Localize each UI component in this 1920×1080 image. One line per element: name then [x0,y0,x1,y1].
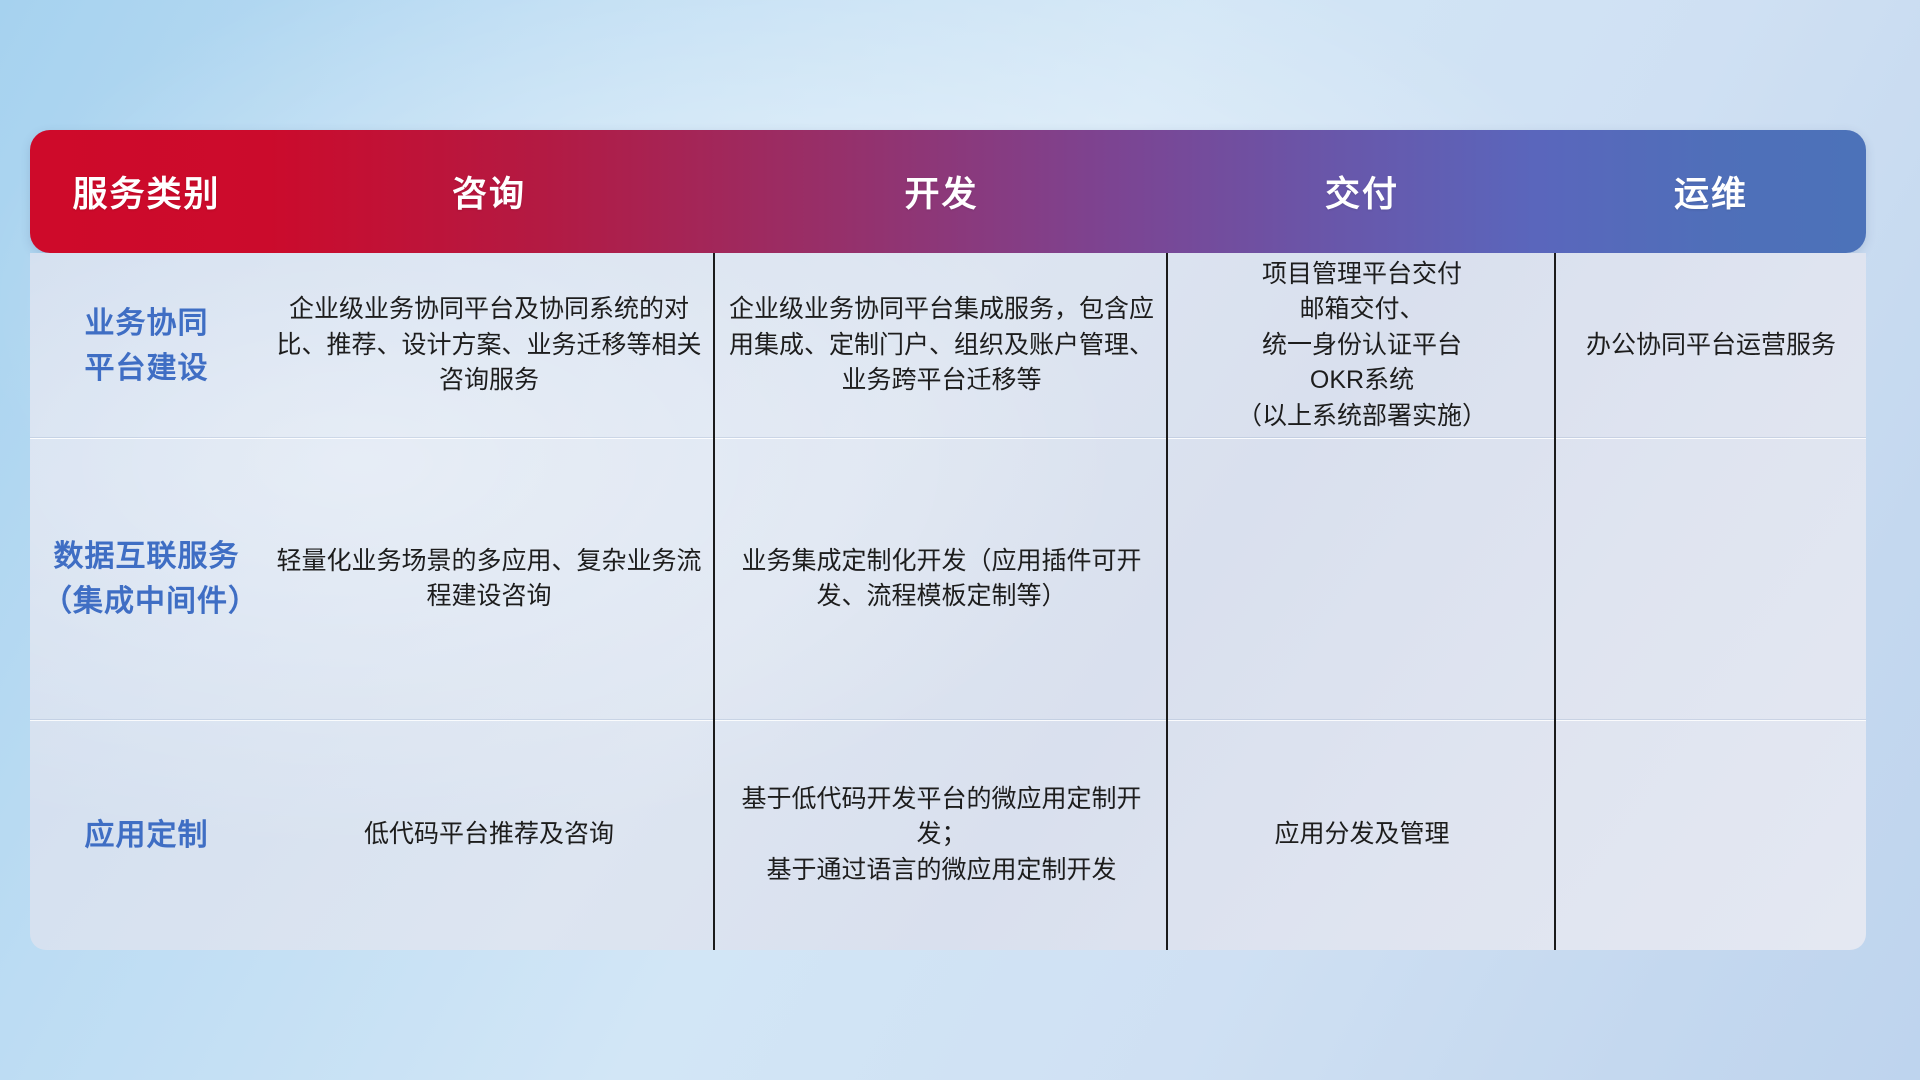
column-divider [713,253,715,950]
row-separator [30,720,1866,721]
service-matrix-table: 服务类别 咨询 开发 交付 运维 业务协同 平台建设 企业级业务协同平台及协同系… [30,130,1866,950]
cell-development: 企业级业务协同平台集成服务，包含应用集成、定制门户、组织及账户管理、业务跨平台迁… [715,253,1168,438]
cell-consulting: 轻量化业务场景的多应用、复杂业务流程建设咨询 [263,438,715,720]
column-divider [1554,253,1556,950]
cell-consulting: 企业级业务协同平台及协同系统的对比、推荐、设计方案、业务迁移等相关咨询服务 [263,253,715,438]
cell-operations: 办公协同平台运营服务 [1556,253,1866,438]
table-header-row: 服务类别 咨询 开发 交付 运维 [30,130,1866,253]
cell-operations [1556,720,1866,950]
row-category-label: 应用定制 [30,720,263,950]
table-row: 业务协同 平台建设 企业级业务协同平台及协同系统的对比、推荐、设计方案、业务迁移… [30,253,1866,438]
table-row: 数据互联服务 （集成中间件） 轻量化业务场景的多应用、复杂业务流程建设咨询 业务… [30,438,1866,720]
row-separator [30,438,1866,439]
cell-consulting: 低代码平台推荐及咨询 [263,720,715,950]
column-header-category: 服务类别 [30,166,263,217]
row-category-label: 业务协同 平台建设 [30,253,263,438]
cell-operations [1556,438,1866,720]
column-header-delivery: 交付 [1168,166,1556,217]
column-header-consulting: 咨询 [263,166,715,217]
table-row: 应用定制 低代码平台推荐及咨询 基于低代码开发平台的微应用定制开发； 基于通过语… [30,720,1866,950]
column-header-operations: 运维 [1556,166,1866,217]
table-body: 业务协同 平台建设 企业级业务协同平台及协同系统的对比、推荐、设计方案、业务迁移… [30,253,1866,950]
cell-delivery: 项目管理平台交付 邮箱交付、 统一身份认证平台 OKR系统 （以上系统部署实施） [1168,253,1556,438]
cell-development: 基于低代码开发平台的微应用定制开发； 基于通过语言的微应用定制开发 [715,720,1168,950]
column-header-development: 开发 [715,166,1168,217]
column-divider [1166,253,1168,950]
cell-delivery: 应用分发及管理 [1168,720,1556,950]
cell-development: 业务集成定制化开发（应用插件可开发、流程模板定制等） [715,438,1168,720]
row-category-label: 数据互联服务 （集成中间件） [30,438,263,720]
cell-delivery [1168,438,1556,720]
